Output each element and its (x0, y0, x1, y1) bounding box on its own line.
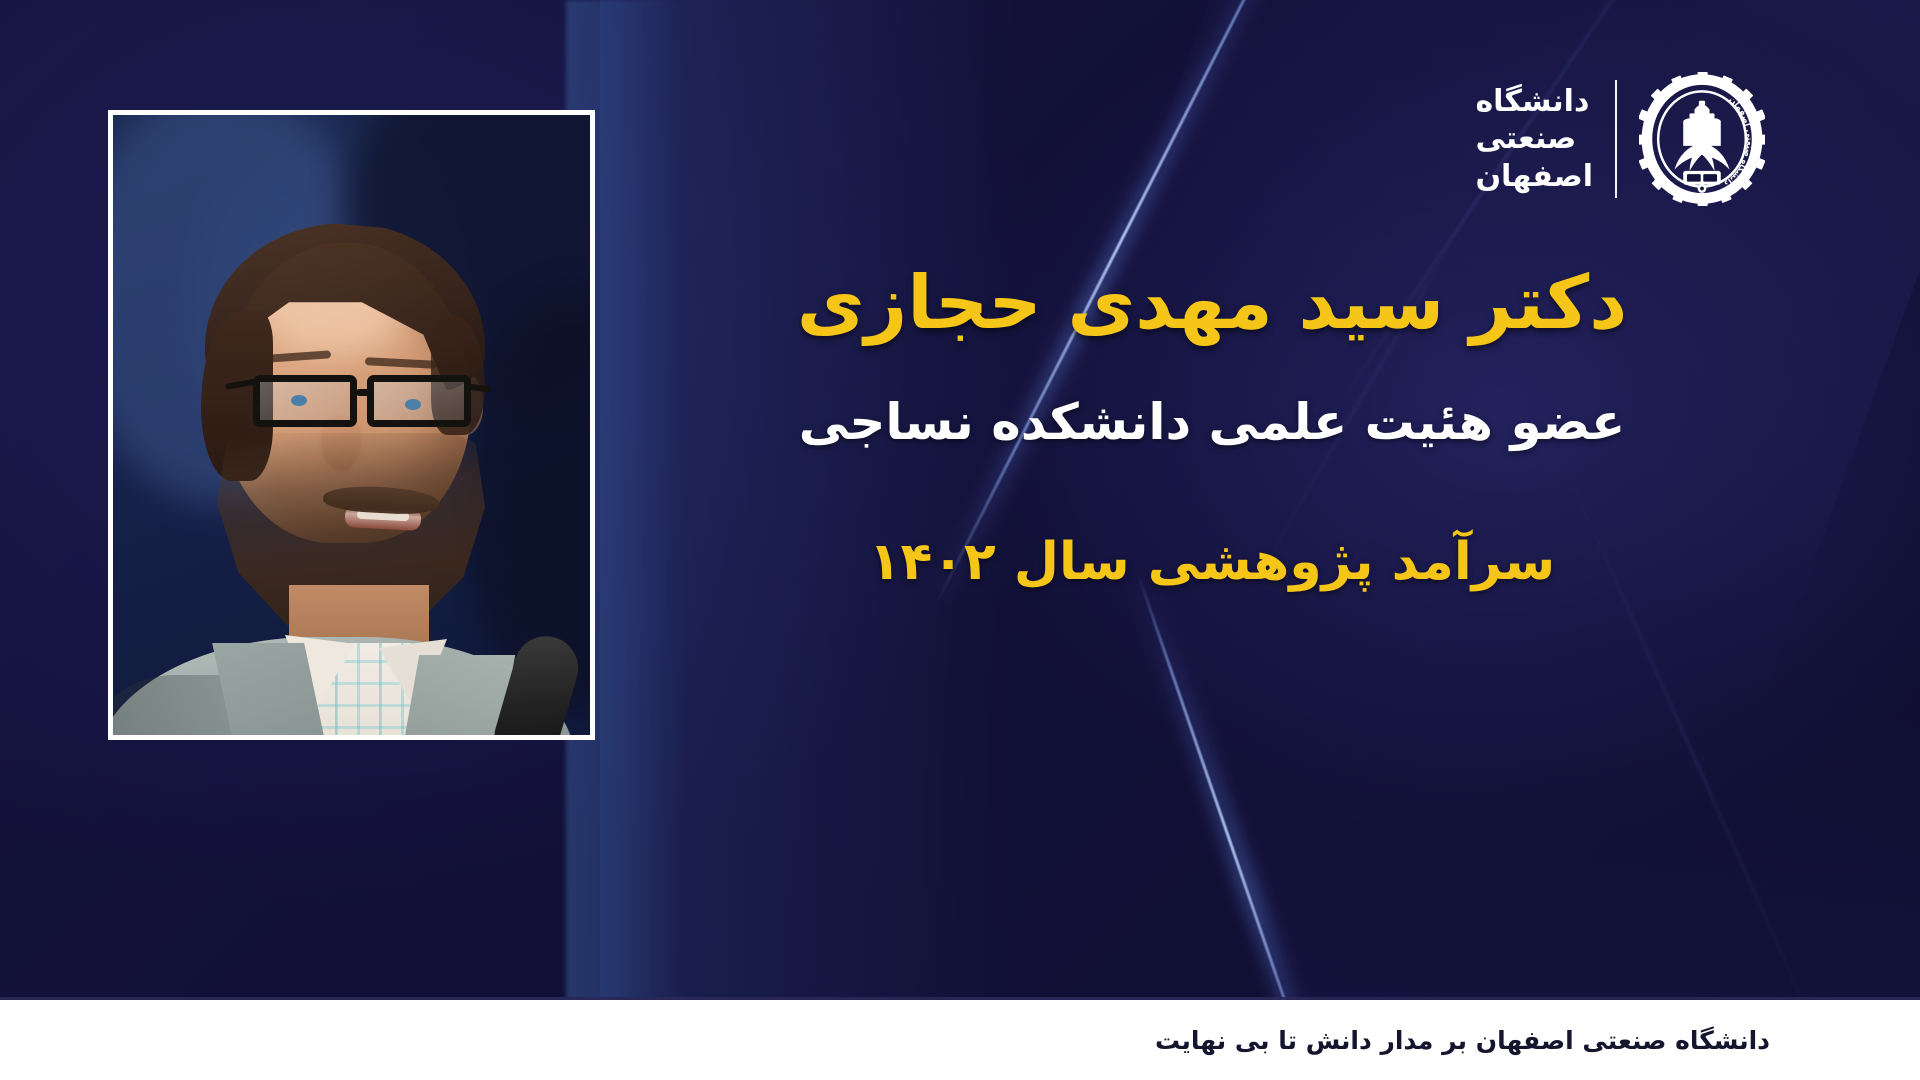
poster-text-block: دکتر سید مهدی حجازی عضو هئیت علمی دانشکد… (622, 258, 1802, 597)
portrait-photo (113, 115, 590, 735)
honoree-name: دکتر سید مهدی حجازی (622, 258, 1802, 348)
portrait-eye-right (405, 399, 421, 410)
logo-line-sanati: صنعتی (1475, 122, 1576, 156)
award-title: سرآمد پژوهشی سال ۱۴۰۲ (622, 529, 1802, 597)
eyeglasses-bridge (357, 389, 373, 396)
logo-line-daneshgah: دانشگاه (1475, 85, 1589, 119)
iut-gear-emblem-icon: دانشگاه صنعتی اصفهان (1639, 72, 1765, 206)
portrait-photo-frame (108, 110, 595, 740)
eyeglasses-icon (219, 363, 481, 433)
portrait-eye-left (291, 395, 307, 406)
poster-footer: دانشگاه صنعتی اصفهان بر مدار دانش تا بی … (0, 1000, 1920, 1080)
logo-line-esfahan: اصفهان (1475, 160, 1593, 194)
university-name-stack: دانشگاه صنعتی اصفهان (1475, 85, 1593, 194)
footer-slogan: دانشگاه صنعتی اصفهان بر مدار دانش تا بی … (1155, 1026, 1770, 1055)
emblem-tulip-motif (1674, 101, 1729, 193)
university-logo-block: دانشگاه صنعتی اصفهان (1475, 72, 1765, 206)
logo-divider (1615, 80, 1617, 198)
award-poster: دانشگاه صنعتی اصفهان (0, 0, 1920, 1080)
honoree-role: عضو هئیت علمی دانشکده نساجی (622, 390, 1802, 455)
